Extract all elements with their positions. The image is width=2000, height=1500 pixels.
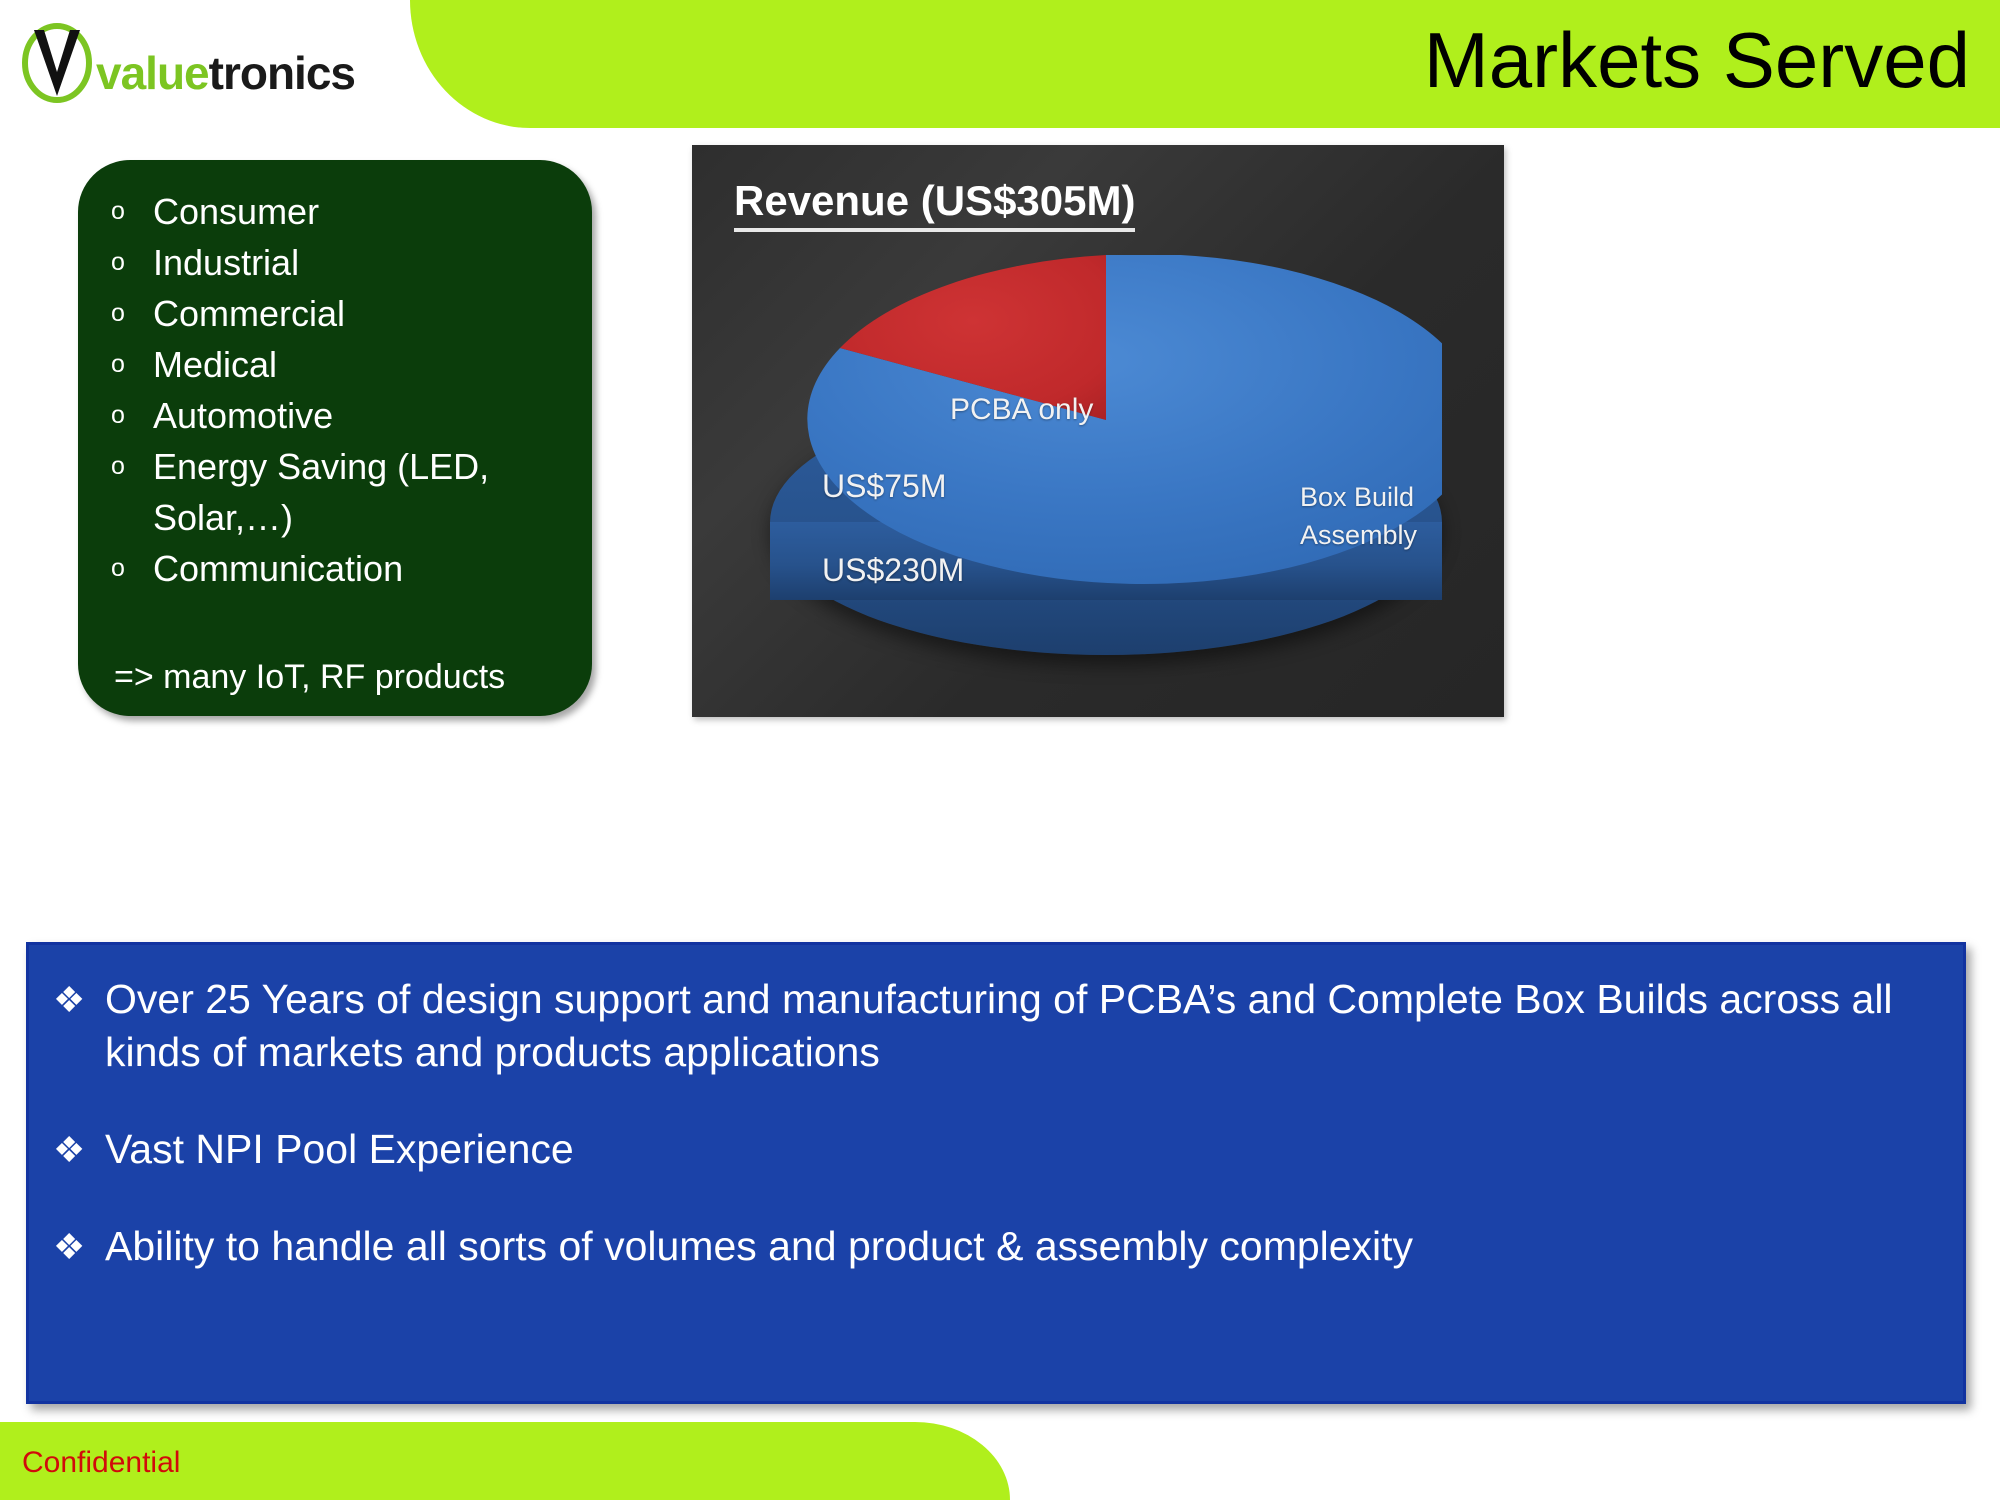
list-item-label: Ability to handle all sorts of volumes a…	[105, 1220, 1927, 1273]
list-item-label: Vast NPI Pool Experience	[105, 1123, 1927, 1176]
list-item: o Medical	[106, 339, 576, 390]
chart-title: Revenue (US$305M)	[734, 177, 1135, 232]
pie-slice-label-box-build-line1: Box Build	[1300, 482, 1414, 512]
list-item-label: Consumer	[153, 186, 576, 237]
list-item-label: Communication	[153, 543, 576, 594]
valuetronics-logo: valuetronics	[18, 20, 398, 120]
circle-bullet-icon: o	[106, 237, 153, 288]
list-item: o Automotive	[106, 390, 576, 441]
diamond-bullet-icon: ❖	[53, 1220, 105, 1273]
list-item-label: Energy Saving (LED, Solar,…)	[153, 441, 576, 543]
list-item: o Energy Saving (LED, Solar,…)	[106, 441, 576, 543]
circle-bullet-icon: o	[106, 390, 153, 441]
markets-footnote: => many IoT, RF products	[114, 655, 584, 699]
list-item: ❖ Over 25 Years of design support and ma…	[53, 973, 1927, 1079]
list-item-label: Automotive	[153, 390, 576, 441]
v-in-circle-icon	[18, 22, 96, 104]
logo-word-value: value	[96, 47, 209, 99]
list-item: o Commercial	[106, 288, 576, 339]
list-item: o Communication	[106, 543, 576, 594]
list-item: o Industrial	[106, 237, 576, 288]
list-item-label: Over 25 Years of design support and manu…	[105, 973, 1927, 1079]
logo-wordmark: valuetronics	[96, 46, 355, 100]
list-item: ❖ Vast NPI Pool Experience	[53, 1123, 1927, 1176]
diamond-bullet-icon: ❖	[53, 1123, 105, 1176]
confidential-label: Confidential	[22, 1446, 180, 1480]
pie-slice-value-pcba: US$75M	[822, 468, 947, 505]
list-item: ❖ Ability to handle all sorts of volumes…	[53, 1220, 1927, 1273]
pie-slice-label-box-build: Box BuildAssembly	[1300, 478, 1417, 554]
markets-list: o Consumer o Industrial o Commercial o M…	[106, 186, 576, 594]
markets-list-panel: o Consumer o Industrial o Commercial o M…	[78, 160, 592, 716]
circle-bullet-icon: o	[106, 441, 153, 492]
list-item-label: Commercial	[153, 288, 576, 339]
circle-bullet-icon: o	[106, 288, 153, 339]
circle-bullet-icon: o	[106, 339, 153, 390]
capabilities-panel: ❖ Over 25 Years of design support and ma…	[26, 942, 1966, 1404]
capabilities-list: ❖ Over 25 Years of design support and ma…	[29, 945, 1963, 1273]
revenue-chart-panel: Revenue (US$305M)	[692, 145, 1504, 717]
list-item-label: Industrial	[153, 237, 576, 288]
diamond-bullet-icon: ❖	[53, 973, 105, 1026]
page-title: Markets Served	[1424, 10, 1970, 110]
pie-chart: PCBA only US$75M US$230M Box BuildAssemb…	[722, 240, 1492, 700]
pie-slice-label-box-build-line2: Assembly	[1300, 520, 1417, 550]
list-item-label: Medical	[153, 339, 576, 390]
circle-bullet-icon: o	[106, 186, 153, 237]
pie-slice-label-pcba: PCBA only	[950, 393, 1093, 427]
list-item: o Consumer	[106, 186, 576, 237]
circle-bullet-icon: o	[106, 543, 153, 594]
pie-slice-value-box-build: US$230M	[822, 552, 964, 589]
logo-word-tronics: tronics	[209, 47, 355, 99]
